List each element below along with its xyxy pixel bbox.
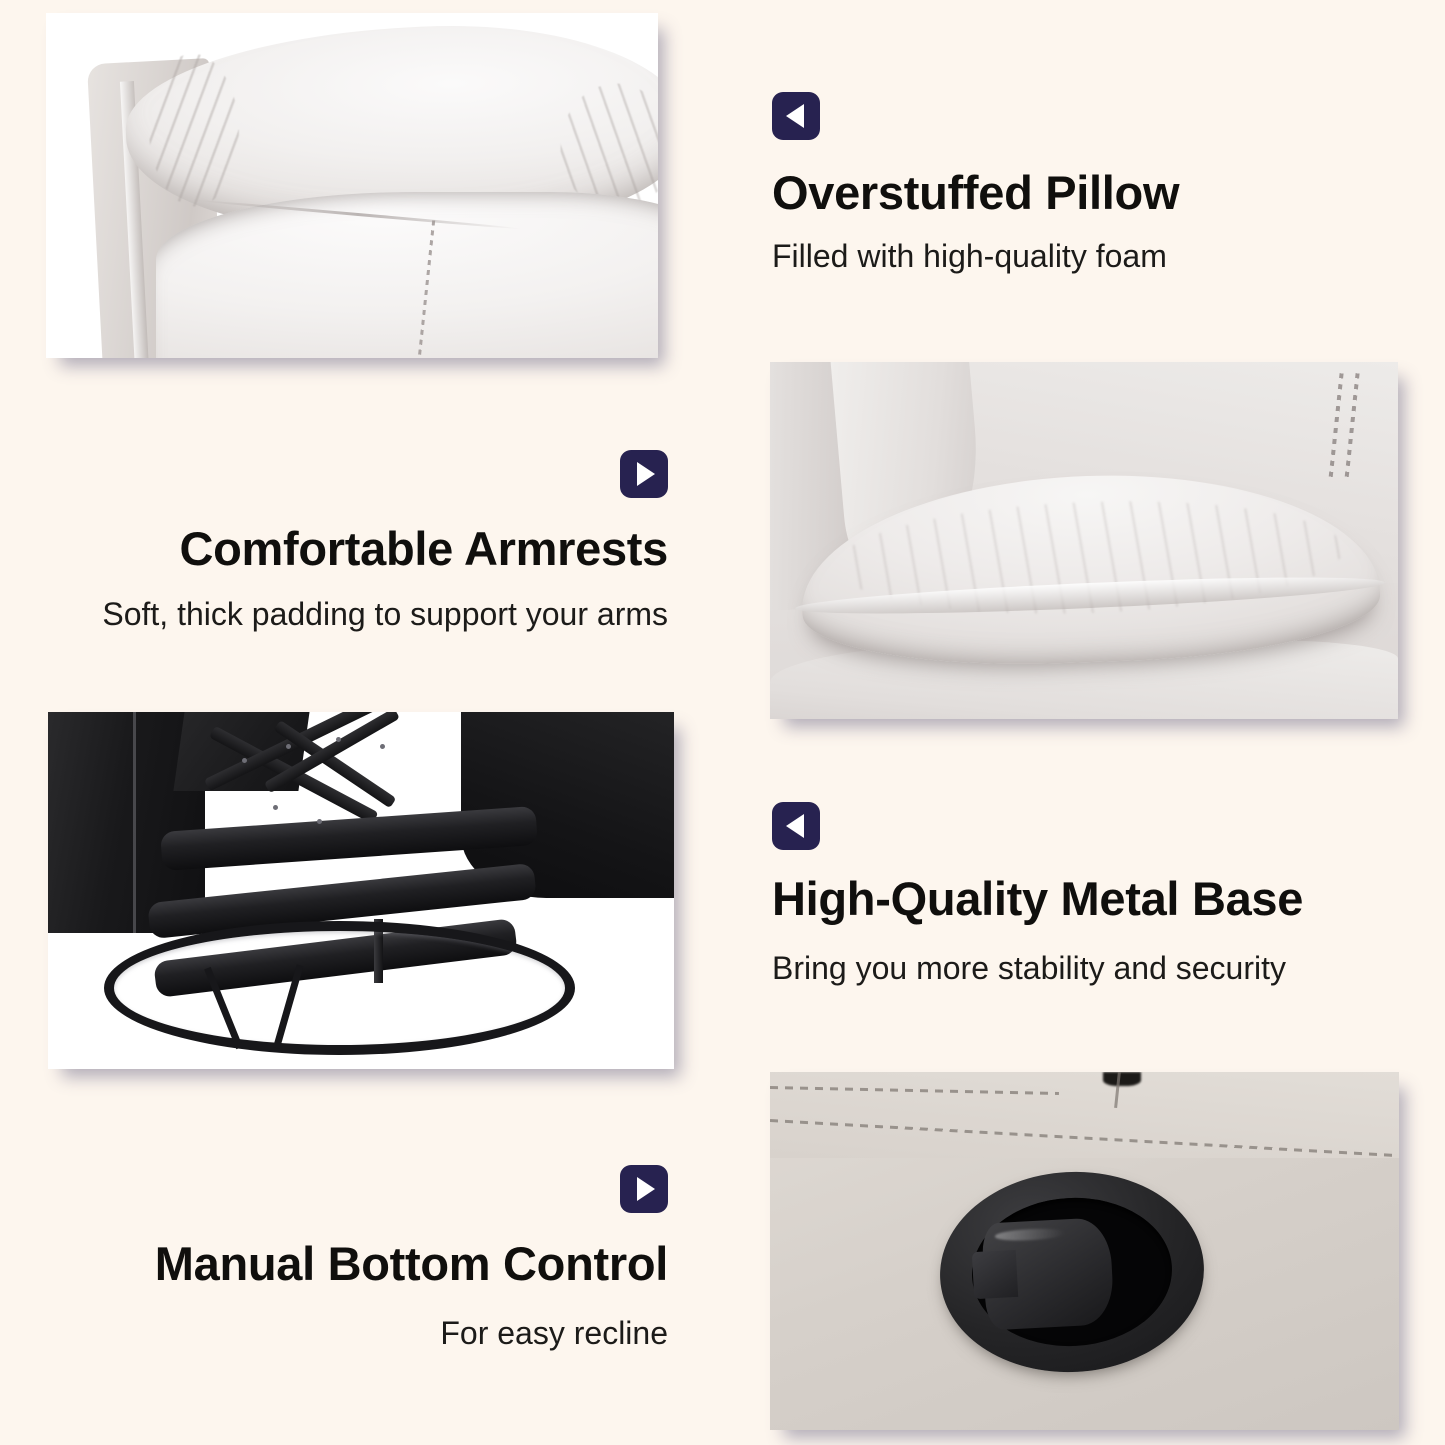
triangle-right-icon — [620, 1165, 668, 1213]
icon-row — [46, 450, 668, 498]
triangle-right-icon — [620, 450, 668, 498]
recline-release-handle[interactable] — [935, 1165, 1209, 1379]
rivet — [286, 744, 291, 749]
feature-title: High-Quality Metal Base — [772, 874, 1412, 924]
feature-photo-manual-bottom-control — [770, 1072, 1399, 1430]
feature-subtitle: Bring you more stability and security — [772, 950, 1412, 987]
feature-photo-high-quality-metal-base — [48, 712, 674, 1069]
lever-highlight — [994, 1228, 1065, 1242]
pillow-photo — [770, 362, 1398, 719]
rivet — [380, 744, 385, 749]
feature-text-comfortable-armrests: Comfortable Armrests Soft, thick padding… — [46, 450, 668, 633]
swivel-ring-base — [104, 921, 575, 1055]
cushion-fold-left — [146, 52, 240, 207]
feature-photo-overstuffed-pillow — [46, 13, 658, 358]
feature-subtitle: Filled with high-quality foam — [772, 238, 1392, 275]
rivet — [336, 737, 341, 742]
feature-text-overstuffed-pillow: Overstuffed Pillow Filled with high-qual… — [772, 92, 1392, 275]
triangle-right-glyph — [637, 1177, 655, 1201]
feature-title: Manual Bottom Control — [46, 1239, 668, 1289]
leather-upper-panel — [770, 1072, 1399, 1158]
feature-subtitle: Soft, thick padding to support your arms — [46, 596, 668, 633]
feature-text-high-quality-metal-base: High-Quality Metal Base Bring you more s… — [772, 802, 1412, 987]
infographic-canvas: Overstuffed Pillow Filled with high-qual… — [0, 0, 1445, 1445]
panel-gap-shadow — [1103, 1072, 1141, 1086]
triangle-right-glyph — [637, 462, 655, 486]
icon-row — [46, 1165, 668, 1213]
handle-recess — [968, 1193, 1176, 1352]
triangle-left-icon — [772, 92, 820, 140]
headrest-photo — [46, 13, 658, 358]
feature-text-manual-bottom-control: Manual Bottom Control For easy recline — [46, 1165, 668, 1352]
feature-title: Overstuffed Pillow — [772, 168, 1392, 218]
feature-subtitle: For easy recline — [46, 1315, 668, 1352]
triangle-left-glyph — [786, 104, 804, 128]
feature-photo-comfortable-armrests — [770, 362, 1398, 719]
metal-base-photo — [48, 712, 674, 1069]
triangle-left-glyph — [786, 814, 804, 838]
handle-lever[interactable] — [981, 1217, 1115, 1330]
recline-handle-photo — [770, 1072, 1399, 1430]
feature-title: Comfortable Armrests — [46, 524, 668, 574]
triangle-left-icon — [772, 802, 820, 850]
